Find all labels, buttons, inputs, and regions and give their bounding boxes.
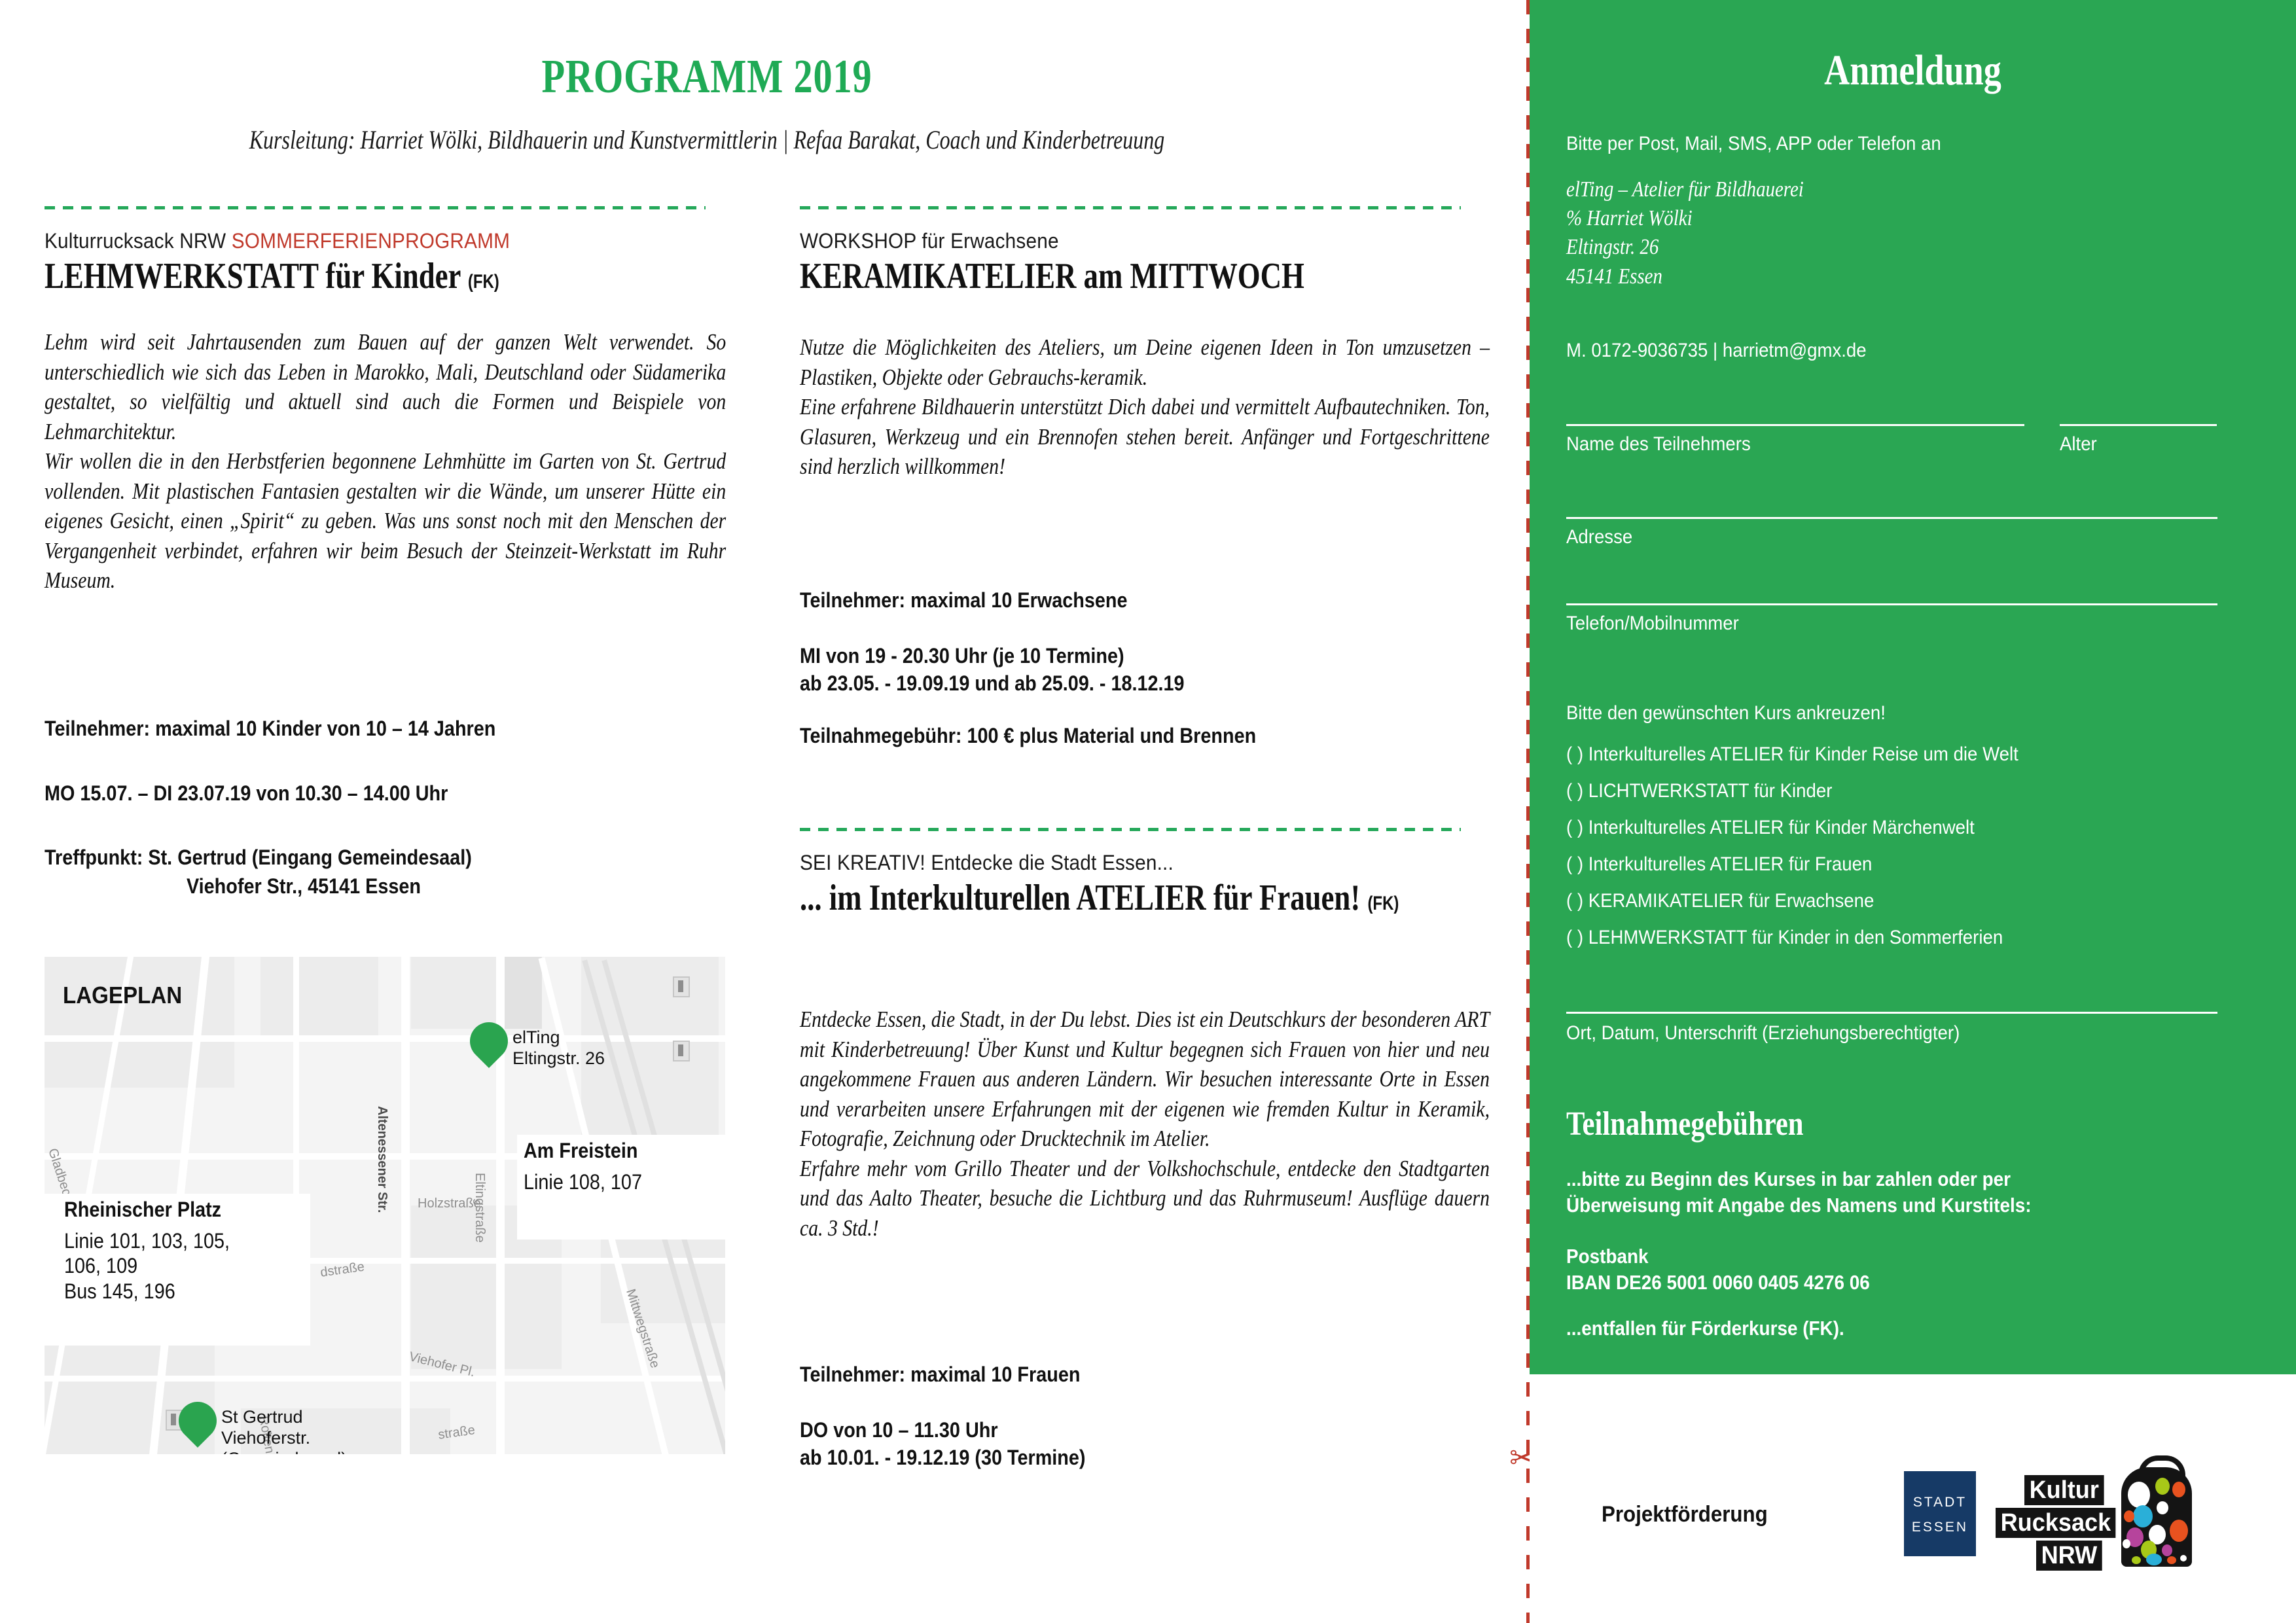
backpack-body-icon	[2121, 1467, 2192, 1567]
course-checkbox-list: ( ) Interkulturelles ATELIER für Kinder …	[1566, 745, 2058, 965]
course-checkbox-item[interactable]: ( ) Interkulturelles ATELIER für Kinder …	[1566, 818, 2018, 838]
signature-field-line[interactable]	[1566, 1012, 2217, 1014]
registration-panel: Anmeldung Bitte per Post, Mail, SMS, APP…	[1530, 0, 2296, 1374]
course-checkbox-item[interactable]: ( ) Interkulturelles ATELIER für Frauen	[1566, 855, 2018, 874]
divider-column2-bottom	[800, 828, 1461, 831]
column1-meeting-point-line1: Treffpunkt: St. Gertrud (Eingang Gemeind…	[45, 844, 692, 872]
course-checkbox-item[interactable]: ( ) LEHMWERKSTATT für Kinder in den Somm…	[1566, 928, 2018, 948]
location-map: LAGEPLAN Gladbecker Str. Altenessener St…	[45, 957, 725, 1454]
column2-body2: Entdecke Essen, die Stadt, in der Du leb…	[800, 1005, 1490, 1243]
column1-kicker-highlight: SOMMERFERIENPROGRAMM	[232, 229, 510, 253]
funding-label: Projektförderung	[1602, 1502, 1768, 1527]
column1-headline-text: LEHMWERKSTATT für Kinder	[45, 256, 461, 296]
map-street-altenessener: Altenessener Str.	[374, 1106, 389, 1213]
column2-body1-p2: Eine erfahrene Bildhauerin unterstützt D…	[800, 392, 1490, 482]
map-stop-rheinischer-name: Rheinischer Platz	[64, 1198, 279, 1222]
age-field-line[interactable]	[2060, 424, 2217, 426]
map-title: LAGEPLAN	[63, 982, 182, 1009]
map-street-holzstrasse: Holzstraße	[418, 1196, 481, 1211]
phone-field-line[interactable]	[1566, 603, 2217, 605]
map-pin-st-gertrud-label: St Gertrud Viehoferstr. (Gemeindesaal)	[221, 1407, 347, 1454]
course-checkbox-item[interactable]: ( ) KERAMIKATELIER für Erwachsene	[1566, 891, 2018, 911]
fees-note: ...bitte zu Beginn des Kurses in bar zah…	[1566, 1166, 2032, 1219]
column2-participants2: Teilnehmer: maximal 10 Frauen	[800, 1361, 1507, 1389]
flyer-page: PROGRAMM 2019 Kursleitung: Harriet Wölki…	[0, 0, 2296, 1623]
page-title: PROGRAMM 2019	[141, 49, 1272, 104]
column1-kicker: Kulturrucksack NRW SOMMERFERIENPROGRAMM	[45, 229, 510, 253]
column1-body-p1: Lehm wird seit Jahrtausenden zum Bauen a…	[45, 327, 726, 446]
column2-dates1: MI von 19 - 20.30 Uhr (je 10 Termine) ab…	[800, 643, 1507, 697]
column1-body-p2: Wir wollen die in den Herbstferien begon…	[45, 446, 726, 596]
checkbox-intro: Bitte den gewünschten Kurs ankreuzen!	[1566, 700, 1886, 726]
address-field-label: Adresse	[1566, 526, 1632, 548]
station-icon	[673, 1041, 690, 1061]
phone-field-label: Telefon/Mobilnummer	[1566, 613, 1739, 635]
krw-line2: Rucksack	[1996, 1508, 2116, 1538]
column2-body2-p2: Erfahre mehr vom Grillo Theater und der …	[800, 1154, 1490, 1243]
column1-meeting-point-line2: Viehofer Str., 45141 Essen	[45, 873, 563, 901]
map-stop-rheinischer-lines: Linie 101, 103, 105, 106, 109 Bus 145, 1…	[64, 1228, 279, 1304]
column1-dates: MO 15.07. – DI 23.07.19 von 10.30 – 14.0…	[45, 780, 751, 808]
bank-details: Postbank IBAN DE26 5001 0060 0405 4276 0…	[1566, 1243, 1870, 1296]
course-checkbox-item[interactable]: ( ) Interkulturelles ATELIER für Kinder …	[1566, 745, 2018, 764]
station-icon	[673, 976, 690, 997]
krw-line3: NRW	[2036, 1541, 2102, 1571]
column2-headline2-fk: (FK)	[1367, 893, 1399, 914]
fees-title: Teilnahmegebühren	[1566, 1105, 1804, 1143]
kulturrucksack-nrw-logo: Kultur Rucksack NRW	[1996, 1452, 2192, 1576]
divider-column1	[45, 206, 706, 209]
map-stop-freistein: Am Freistein Linie 108, 107	[517, 1135, 725, 1240]
column2-body1: Nutze die Möglichkeiten des Ateliers, um…	[800, 332, 1490, 482]
column2-headline2-text: ... im Interkulturellen ATELIER für Frau…	[800, 878, 1360, 918]
divider-column2-top	[800, 206, 1461, 209]
column2-kicker1: WORKSHOP für Erwachsene	[800, 229, 1059, 253]
fees-fk-note: ...entfallen für Förderkurse (FK).	[1566, 1315, 1844, 1342]
krw-line1: Kultur	[2024, 1475, 2104, 1505]
signature-field-label: Ort, Datum, Unterschrift (Erziehungsbere…	[1566, 1022, 1960, 1044]
column2-kicker2: SEI KREATIV! Entdecke die Stadt Essen...	[800, 851, 1174, 875]
registration-contact: M. 0172-9036735 | harrietm@gmx.de	[1566, 338, 1867, 364]
address-field-line[interactable]	[1566, 517, 2217, 519]
map-stop-freistein-name: Am Freistein	[524, 1139, 712, 1163]
course-checkbox-item[interactable]: ( ) LICHTWERKSTATT für Kinder	[1566, 781, 2018, 801]
column2-dates2: DO von 10 – 11.30 Uhr ab 10.01. - 19.12.…	[800, 1417, 1507, 1471]
column1-participants: Teilnehmer: maximal 10 Kinder von 10 – 1…	[45, 715, 751, 743]
stadt-essen-line1: STADT	[1904, 1495, 1976, 1510]
column2-body1-p1: Nutze die Möglichkeiten des Ateliers, um…	[800, 332, 1490, 392]
column2-headline1: KERAMIKATELIER am MITTWOCH	[800, 257, 1491, 297]
name-field-line[interactable]	[1566, 424, 2024, 426]
column2-headline2: ... im Interkulturellen ATELIER für Frau…	[800, 878, 1418, 919]
name-field-label: Name des Teilnehmers	[1566, 433, 1751, 455]
page-subtitle: Kursleitung: Harriet Wölki, Bildhauerin …	[141, 124, 1272, 155]
map-pin-elting-label: elTing Eltingstr. 26	[512, 1027, 605, 1069]
column1-body: Lehm wird seit Jahrtausenden zum Bauen a…	[45, 327, 726, 596]
column2-fee1: Teilnahmegebühr: 100 € plus Material und…	[800, 722, 1507, 750]
age-field-label: Alter	[2060, 433, 2097, 455]
column1-headline: LEHMWERKSTATT für Kinder (FK)	[45, 257, 725, 297]
column2-participants1: Teilnehmer: maximal 10 Erwachsene	[800, 587, 1507, 615]
registration-title: Anmeldung	[1598, 46, 2227, 96]
column2-body2-p1: Entdecke Essen, die Stadt, in der Du leb…	[800, 1005, 1490, 1154]
column1-kicker-plain: Kulturrucksack NRW	[45, 229, 232, 253]
left-content-area: PROGRAMM 2019 Kursleitung: Harriet Wölki…	[0, 0, 1530, 1623]
column1-headline-fk: (FK)	[468, 271, 499, 293]
map-stop-freistein-lines: Linie 108, 107	[524, 1169, 712, 1194]
stadt-essen-line2: ESSEN	[1904, 1520, 1976, 1535]
map-stop-rheinischer: Rheinischer Platz Linie 101, 103, 105, 1…	[45, 1194, 310, 1346]
registration-intro: Bitte per Post, Mail, SMS, APP oder Tele…	[1566, 131, 1941, 157]
registration-address: elTing – Atelier für Bildhauerei % Harri…	[1566, 175, 1804, 291]
footer-logos: Projektförderung STADT ESSEN Kultur Ruck…	[1530, 1374, 2296, 1623]
stadt-essen-logo: STADT ESSEN	[1904, 1471, 1976, 1556]
